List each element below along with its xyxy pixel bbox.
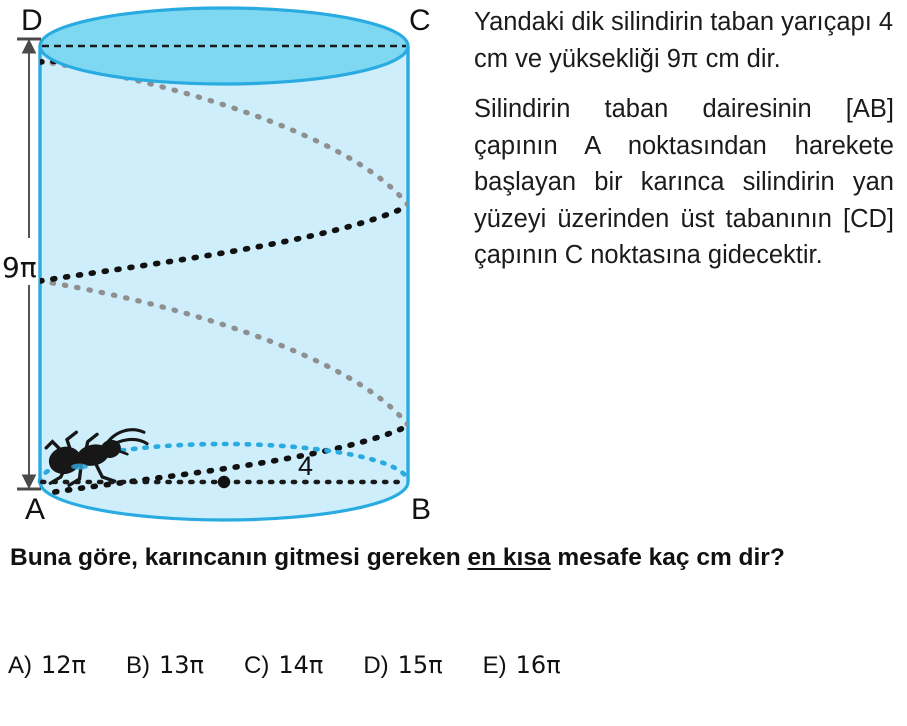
answer-choice-c-letter: C) (244, 652, 269, 679)
question-prompt: Buna göre, karıncanın gitmesi gereken en… (10, 539, 900, 576)
answer-choice-a-letter: A) (8, 652, 32, 679)
label-A: A (25, 493, 45, 525)
answer-choice-b-value: 13π (159, 651, 204, 679)
answer-choice-d-letter: D) (363, 652, 388, 679)
answer-choice-e-value: 16π (516, 651, 561, 679)
label-C: C (409, 4, 431, 37)
answer-choice-b[interactable]: B)13π (126, 651, 204, 680)
answer-choice-a[interactable]: A)12π (8, 651, 86, 680)
base-center-point (218, 476, 230, 488)
answer-choices: A)12πB)13πC)14πD)15πE)16π (8, 651, 898, 680)
question-page: D C A B 9π 4 Yandaki dik silindirin taba… (0, 0, 907, 726)
answer-choice-b-letter: B) (126, 652, 150, 679)
question-text-part-2: mesafe kaç cm dir? (551, 544, 785, 571)
label-height: 9π (2, 251, 37, 284)
question-text-part-1: Buna göre, karıncanın gitmesi gereken (10, 544, 467, 571)
answer-choice-e[interactable]: E)16π (483, 651, 561, 680)
label-B: B (411, 493, 431, 525)
cylinder-figure: D C A B 9π 4 (0, 0, 460, 525)
problem-statement: Yandaki dik silindirin taban yarıçapı 4 … (474, 4, 894, 288)
answer-choice-c[interactable]: C)14π (244, 651, 323, 680)
answer-choice-a-value: 12π (41, 651, 86, 679)
answer-choice-d[interactable]: D)15π (363, 651, 442, 680)
answer-choice-c-value: 14π (278, 651, 323, 679)
question-emphasis: en kısa (467, 544, 550, 571)
label-D: D (21, 4, 43, 37)
answer-choice-d-value: 15π (398, 651, 443, 679)
label-radius: 4 (298, 451, 313, 481)
answer-choice-e-letter: E) (483, 652, 507, 679)
passage-paragraph-2: Silindirin taban dairesinin [AB] çapının… (474, 91, 894, 274)
passage-paragraph-1: Yandaki dik silindirin taban yarıçapı 4 … (474, 4, 894, 77)
